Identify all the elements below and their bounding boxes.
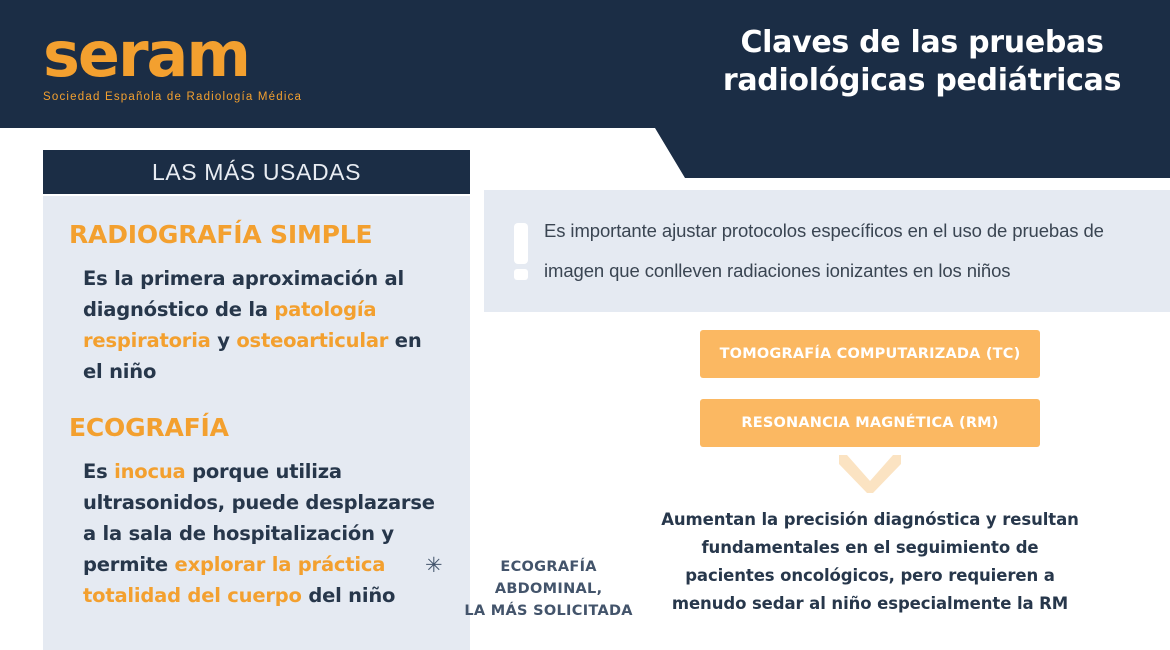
ecografia-note-line2: LA MÁS SOLICITADA [464,603,632,619]
left-column-band-label: LAS MÁS USADAS [152,159,361,186]
left-column-panel: RADIOGRAFÍA SIMPLE Es la primera aproxim… [43,196,470,650]
pill-resonancia-magnetica[interactable]: RESONANCIA MAGNÉTICA (RM) [700,399,1040,447]
highlighted-term: osteoarticular [236,329,388,352]
pill-tomografia-label: TOMOGRAFÍA COMPUTARIZADA (TC) [720,346,1021,362]
body-text-run: y [211,329,237,352]
pill-tomografia-computarizada[interactable]: TOMOGRAFÍA COMPUTARIZADA (TC) [700,330,1040,378]
seram-logo: seram Sociedad Española de Radiología Mé… [43,24,343,103]
section-title-ecografia: ECOGRAFÍA [69,413,444,442]
ecografia-note: ✳ ECOGRAFÍA ABDOMINAL, LA MÁS SOLICITADA [425,556,665,622]
section-body-radiografia: Es la primera aproximación al diagnóstic… [69,263,444,387]
asterisk-icon: ✳ [425,556,443,576]
radiation-callout-text: Es importante ajustar protocolos específ… [544,211,1170,291]
ecografia-note-text: ECOGRAFÍA ABDOMINAL, LA MÁS SOLICITADA [449,556,649,622]
chevron-down-icon [839,455,901,493]
logo-wordmark: seram [43,24,343,86]
section-title-radiografia: RADIOGRAFÍA SIMPLE [69,220,444,249]
logo-tagline: Sociedad Española de Radiología Médica [43,91,343,103]
left-column-band: LAS MÁS USADAS [43,150,470,194]
exclamation-icon [498,223,544,280]
body-text-run: Es [83,460,114,483]
exclamation-bar [514,223,528,264]
section-body-ecografia: Es inocua porque utiliza ultrasonidos, p… [69,456,444,611]
page-title: Claves de las pruebas radiológicas pediá… [712,24,1132,100]
exclamation-dot [514,269,528,280]
ecografia-note-line1: ECOGRAFÍA ABDOMINAL, [495,559,603,597]
highlighted-term: inocua [114,460,185,483]
pill-resonancia-label: RESONANCIA MAGNÉTICA (RM) [741,415,998,431]
radiation-callout: Es importante ajustar protocolos específ… [484,190,1170,312]
conclusion-text: Aumentan la precisión diagnóstica y resu… [660,506,1080,618]
body-text-run: del niño [302,584,396,607]
